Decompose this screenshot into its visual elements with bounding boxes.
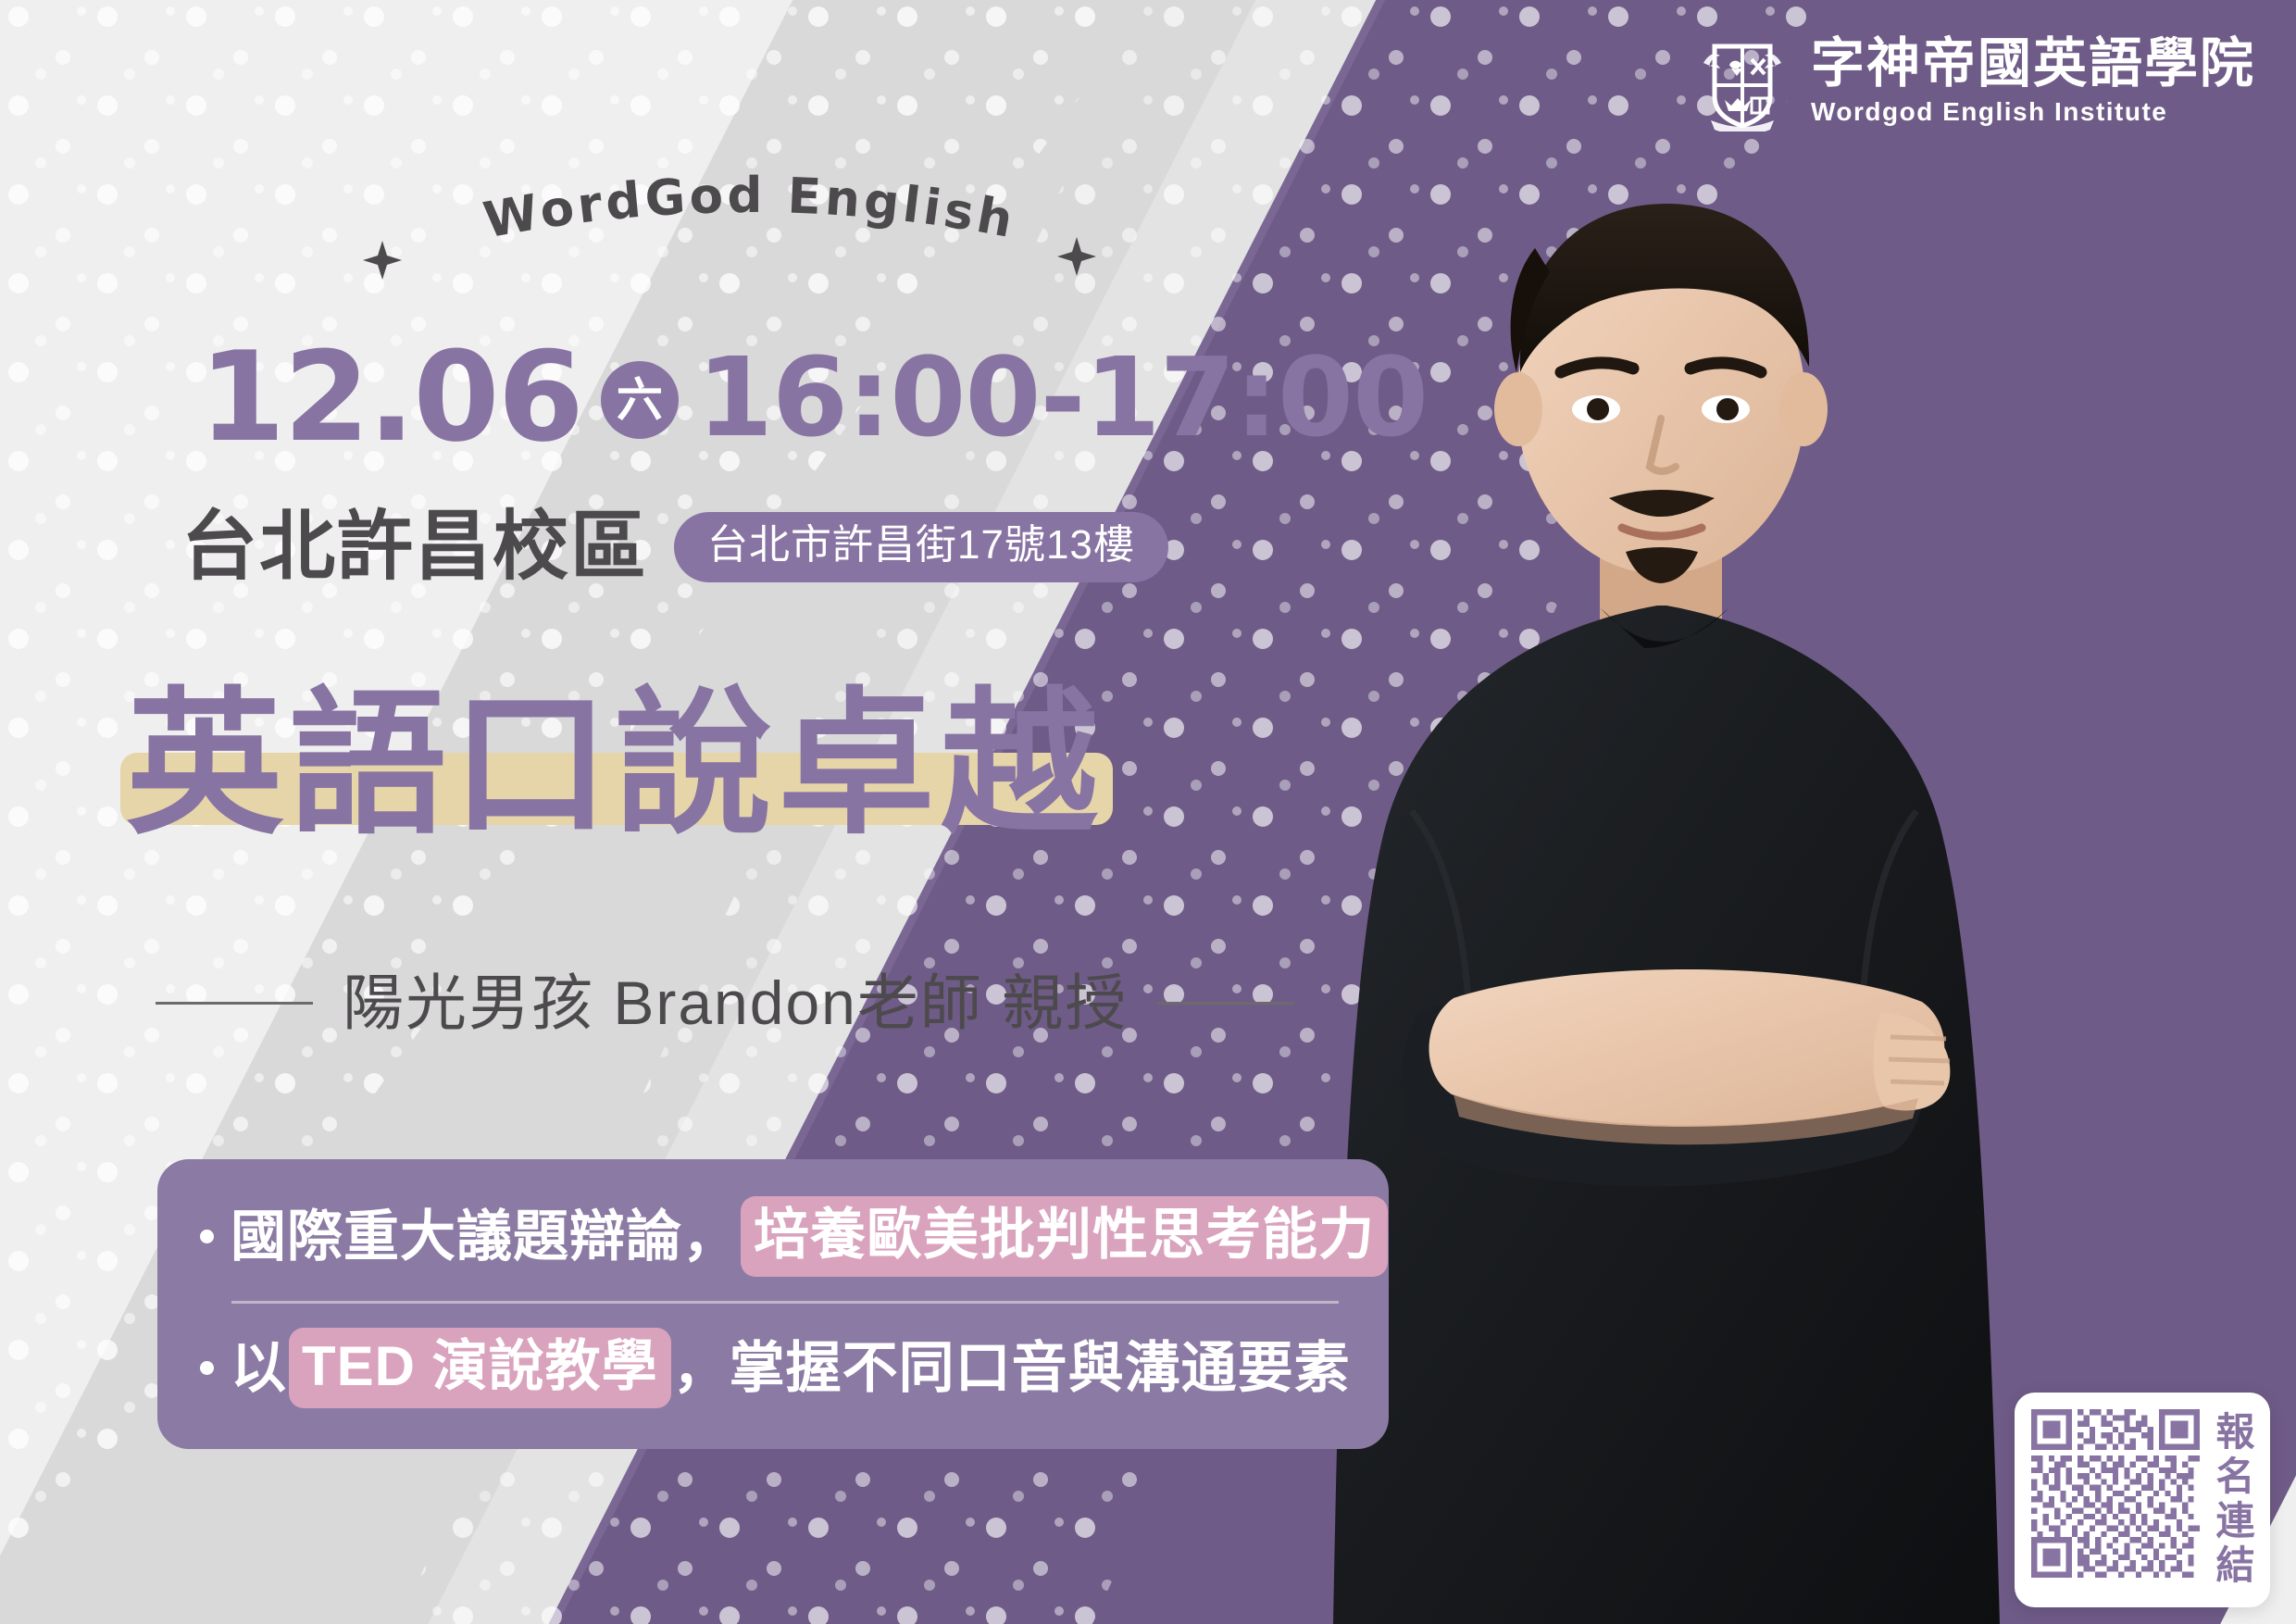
headline-block: 英語口說卓越: [111, 685, 1118, 845]
feature-prefix: 以: [231, 1333, 287, 1403]
instructor-line: 陽光男孩 Brandon老師 親授: [156, 972, 1294, 1033]
poster-canvas: 字神帝國英語學院 Wordgod English Institute WordG…: [0, 0, 2296, 1624]
campus-name: 台北許昌校區: [181, 509, 648, 585]
weekday-badge: 六: [601, 361, 679, 439]
qr-label: 報名連結: [2213, 1409, 2253, 1591]
registration-qr-card[interactable]: 報名連結: [2015, 1393, 2270, 1607]
bullet-icon: [200, 1361, 214, 1375]
shield-crest-icon: [1694, 31, 1791, 131]
list-item: 國際重大議題辯論， 培養歐美批判性思考能力: [200, 1196, 1346, 1277]
logo-english-name: Wordgod English Institute: [1811, 96, 2255, 128]
wordmark-arch: WordGod English: [398, 157, 1102, 269]
bullet-icon: [200, 1230, 214, 1243]
event-time: 16:00-17:00: [697, 343, 1428, 452]
sparkle-icon-left: [363, 241, 402, 280]
logo-chinese-name: 字神帝國英語學院: [1811, 36, 2255, 93]
wordmark-svg: WordGod English: [398, 157, 1102, 269]
feature-suffix: ，掌握不同口音與溝通要素: [673, 1333, 1351, 1403]
address-badge: 台北市許昌街17號13樓: [674, 512, 1168, 582]
divider-left: [156, 1002, 313, 1005]
feature-list: 國際重大議題辯論， 培養歐美批判性思考能力 以 TED 演說教學 ，掌握不同口音…: [157, 1159, 1389, 1449]
sparkle-icon-right: [1057, 237, 1096, 276]
event-date: 12.06: [199, 335, 582, 459]
qr-code-icon[interactable]: [2031, 1409, 2200, 1578]
feature-highlight: 培養歐美批判性思考能力: [741, 1196, 1388, 1277]
instructor-name: 陽光男孩 Brandon老師 親授: [343, 972, 1128, 1033]
feature-divider: [231, 1301, 1339, 1304]
page-title: 英語口說卓越: [111, 685, 1118, 845]
feature-highlight: TED 演說教學: [289, 1328, 671, 1408]
divider-right: [1157, 1002, 1294, 1005]
brand-logo: 字神帝國英語學院 Wordgod English Institute: [1694, 31, 2255, 131]
list-item: 以 TED 演說教學 ，掌握不同口音與溝通要素: [200, 1328, 1346, 1408]
event-datetime: 12.06 六 16:00-17:00: [199, 335, 1428, 459]
wordmark-text: WordGod English: [480, 168, 1020, 250]
event-location: 台北許昌校區 台北市許昌街17號13樓: [181, 509, 1168, 585]
feature-prefix: 國際重大議題辯論，: [231, 1202, 739, 1271]
